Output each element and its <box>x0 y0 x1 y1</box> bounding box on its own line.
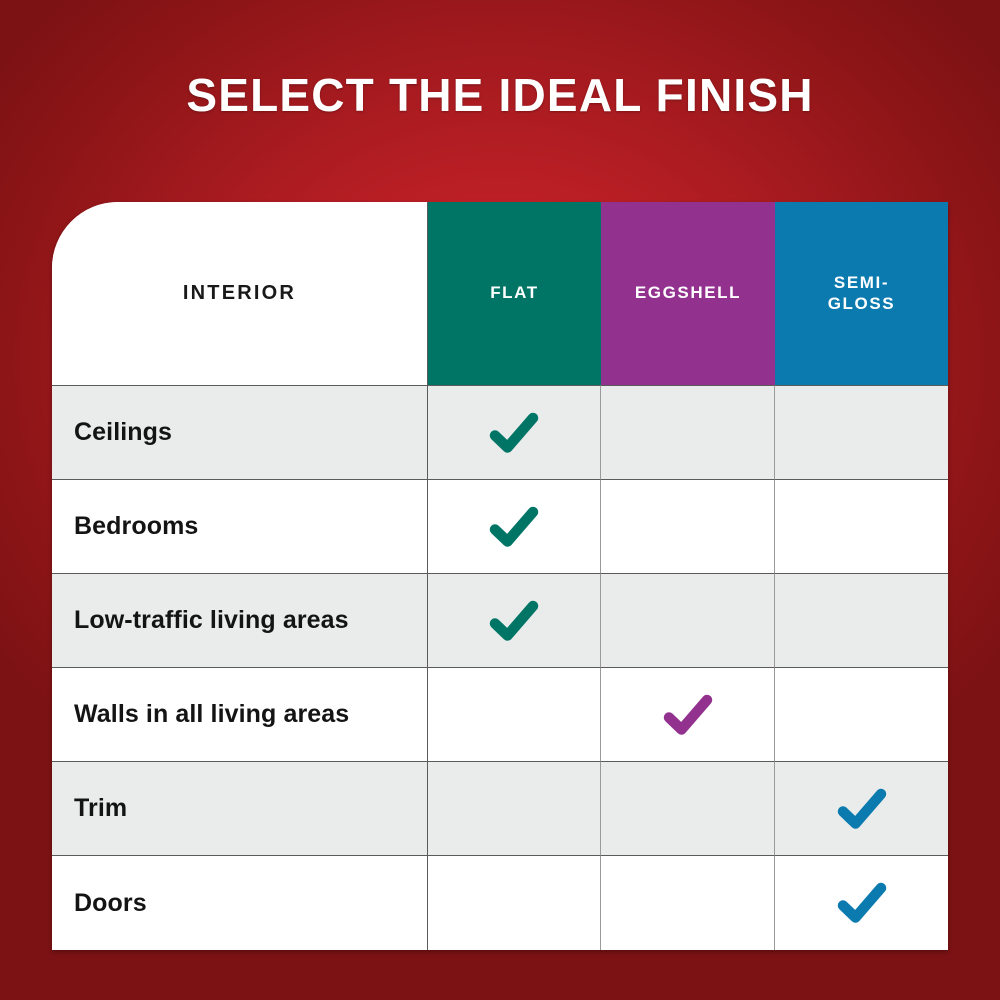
table-row-label-text: Trim <box>74 794 127 823</box>
empty-cell-icon <box>834 405 890 461</box>
table-cell-semi-gloss <box>775 761 948 855</box>
empty-cell-icon <box>660 781 716 837</box>
empty-cell-icon <box>834 687 890 743</box>
column-header-semi-gloss-label: SEMI- GLOSS <box>828 273 896 314</box>
column-header-semi-gloss: SEMI- GLOSS <box>775 202 948 385</box>
table-cell-semi-gloss <box>775 667 948 761</box>
table-row-label: Ceilings <box>52 385 428 479</box>
table-cell-flat <box>428 385 601 479</box>
table-cell-semi-gloss <box>775 479 948 573</box>
empty-cell-icon <box>660 405 716 461</box>
table-row-label-text: Ceilings <box>74 418 172 447</box>
table-row-label-text: Low-traffic living areas <box>74 606 349 635</box>
table-row-label: Low-traffic living areas <box>52 573 428 667</box>
table-cell-flat <box>428 667 601 761</box>
column-header-interior-label: INTERIOR <box>183 281 296 305</box>
table-row-label-text: Walls in all living areas <box>74 700 349 729</box>
table-cell-semi-gloss <box>775 855 948 949</box>
empty-cell-icon <box>486 781 542 837</box>
table-cell-flat <box>428 761 601 855</box>
empty-cell-icon <box>660 499 716 555</box>
table-row-label: Trim <box>52 761 428 855</box>
table-row-label: Walls in all living areas <box>52 667 428 761</box>
column-header-semi-gloss-line2: GLOSS <box>828 294 896 315</box>
check-icon <box>486 499 542 555</box>
empty-cell-icon <box>660 875 716 931</box>
table-cell-eggshell <box>601 761 775 855</box>
table-cell-flat <box>428 479 601 573</box>
table-cell-eggshell <box>601 573 775 667</box>
finish-comparison-table: INTERIOR FLAT EGGSHELL SEMI- GLOSS Ceili… <box>52 202 948 950</box>
column-header-flat-label: FLAT <box>490 283 539 304</box>
table-row-label-text: Doors <box>74 889 147 918</box>
check-icon <box>834 875 890 931</box>
table-cell-eggshell <box>601 385 775 479</box>
table-cell-eggshell <box>601 479 775 573</box>
table-grid: INTERIOR FLAT EGGSHELL SEMI- GLOSS Ceili… <box>52 202 948 950</box>
table-row-label: Bedrooms <box>52 479 428 573</box>
check-icon <box>486 405 542 461</box>
table-cell-eggshell <box>601 667 775 761</box>
check-icon <box>486 593 542 649</box>
table-cell-flat <box>428 573 601 667</box>
table-cell-flat <box>428 855 601 949</box>
empty-cell-icon <box>834 499 890 555</box>
table-cell-semi-gloss <box>775 573 948 667</box>
table-cell-semi-gloss <box>775 385 948 479</box>
table-cell-eggshell <box>601 855 775 949</box>
column-header-flat: FLAT <box>428 202 601 385</box>
page-title: SELECT THE IDEAL FINISH <box>0 72 1000 118</box>
empty-cell-icon <box>486 687 542 743</box>
table-row-label-text: Bedrooms <box>74 512 198 541</box>
empty-cell-icon <box>486 875 542 931</box>
empty-cell-icon <box>660 593 716 649</box>
column-header-eggshell-label: EGGSHELL <box>635 283 741 304</box>
column-header-semi-gloss-line1: SEMI- <box>828 273 896 294</box>
table-row-label: Doors <box>52 855 428 949</box>
column-header-eggshell: EGGSHELL <box>601 202 775 385</box>
empty-cell-icon <box>834 593 890 649</box>
column-header-interior: INTERIOR <box>52 202 428 385</box>
check-icon <box>660 687 716 743</box>
check-icon <box>834 781 890 837</box>
